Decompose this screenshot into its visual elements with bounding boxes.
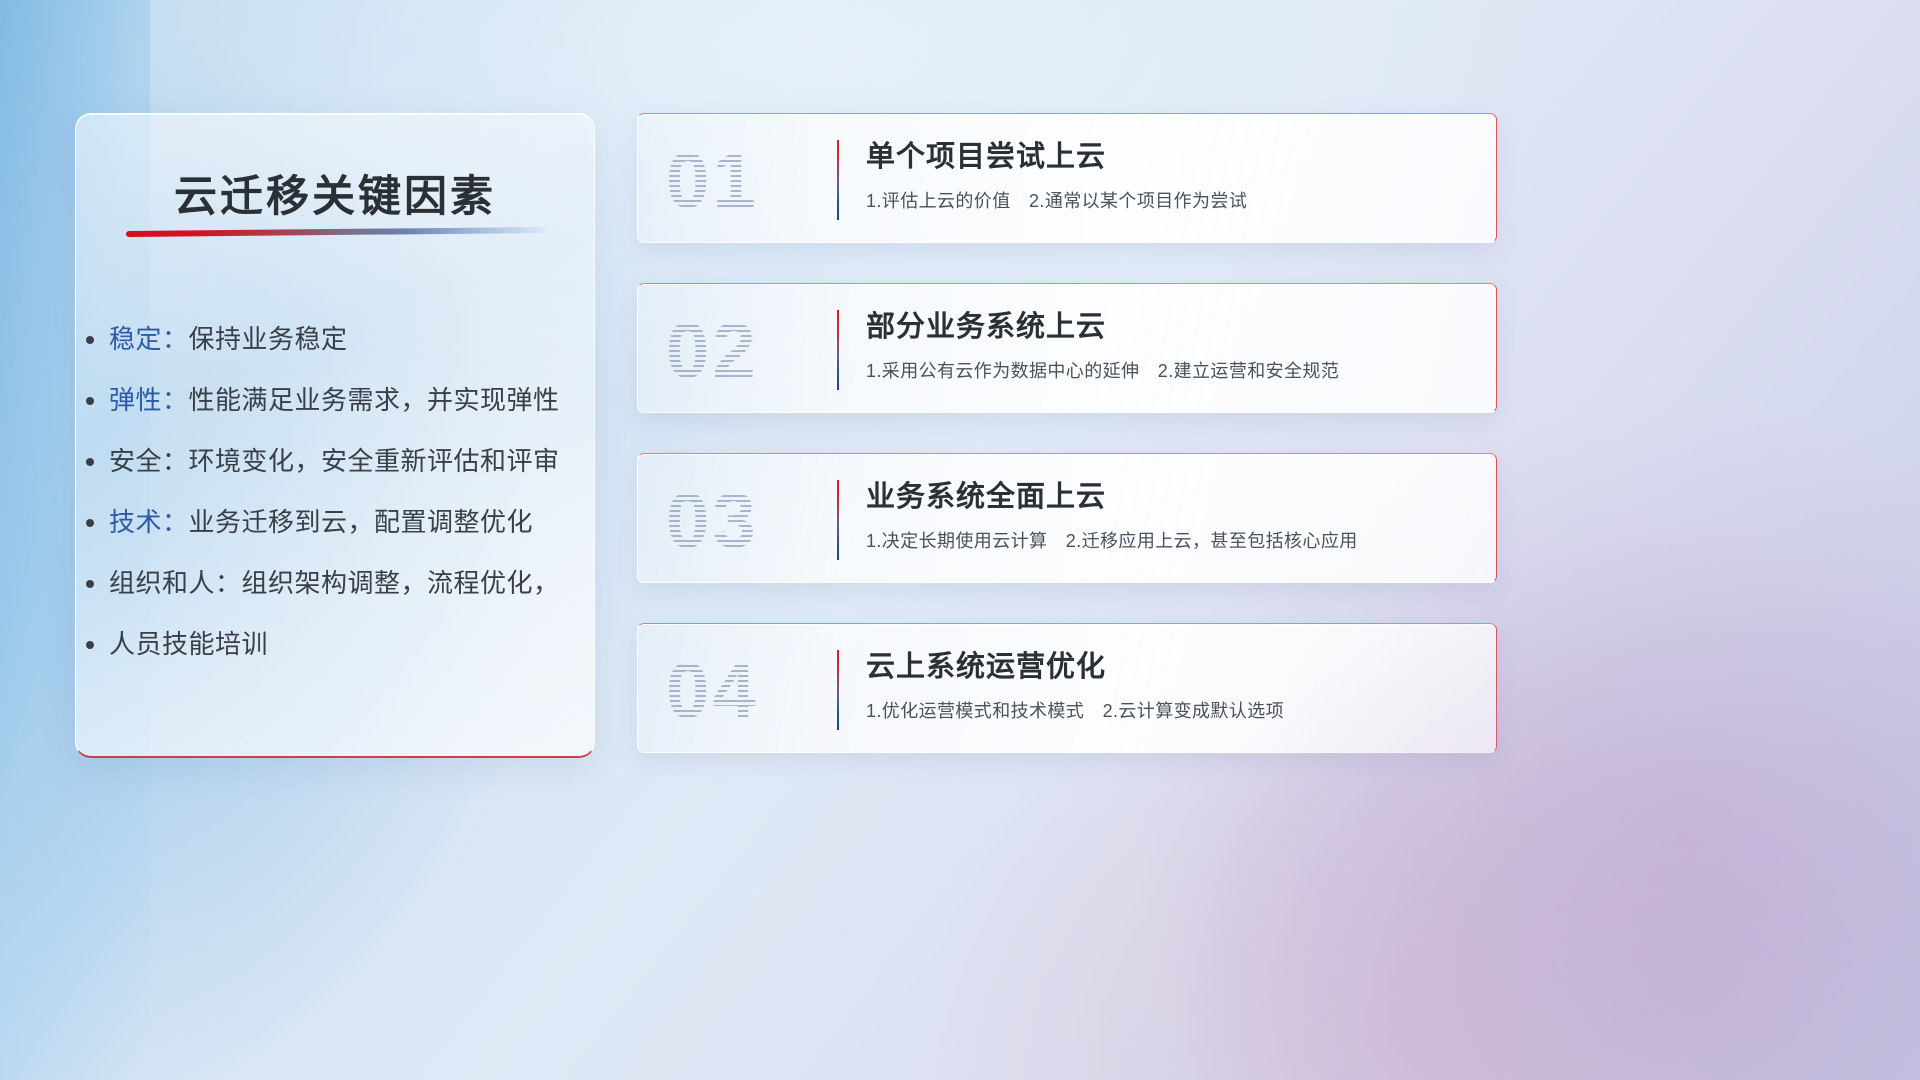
stage-card-body: 业务系统全面上云1.决定长期使用云计算 2.迁移应用上云，甚至包括核心应用	[866, 476, 1478, 554]
key-factor-text: 环境变化，安全重新评估和评审	[189, 446, 560, 476]
stage-description: 1.优化运营模式和技术模式 2.云计算变成默认选项	[866, 698, 1478, 724]
stage-title: 部分业务系统上云	[866, 306, 1478, 348]
key-factor-text: 人员技能培训	[109, 629, 268, 659]
stage-description: 1.评估上云的价值 2.通常以某个项目作为尝试	[866, 188, 1478, 214]
stage-title: 业务系统全面上云	[866, 476, 1478, 518]
key-factor-label: 稳定：	[109, 324, 189, 354]
key-factor-text: 保持业务稳定	[189, 324, 348, 354]
stage-title: 单个项目尝试上云	[866, 136, 1478, 178]
stage-title: 云上系统运营优化	[866, 646, 1478, 688]
stage-divider-bar	[837, 480, 839, 560]
stage-number: 03	[666, 470, 826, 570]
stage-divider-bar	[837, 140, 839, 220]
stage-card[interactable]: 03业务系统全面上云1.决定长期使用云计算 2.迁移应用上云，甚至包括核心应用	[637, 453, 1497, 583]
key-factor-text: 性能满足业务需求，并实现弹性	[189, 385, 560, 415]
key-factor-label: 组织和人：	[109, 568, 242, 598]
key-factor-text: 组织架构调整，流程优化，	[242, 568, 560, 598]
key-factor-item: 组织和人：组织架构调整，流程优化，	[109, 553, 572, 614]
key-factors-list: 稳定：保持业务稳定弹性：性能满足业务需求，并实现弹性安全：环境变化，安全重新评估…	[109, 309, 572, 675]
key-factor-item: 稳定：保持业务稳定	[109, 309, 572, 370]
stage-number: 02	[666, 300, 826, 400]
stage-card-body: 云上系统运营优化1.优化运营模式和技术模式 2.云计算变成默认选项	[866, 646, 1478, 724]
key-factor-text: 业务迁移到云，配置调整优化	[189, 507, 534, 537]
key-factor-item: 安全：环境变化，安全重新评估和评审	[109, 431, 572, 492]
page-title: 云迁移关键因素	[76, 162, 594, 224]
stage-card-body: 部分业务系统上云1.采用公有云作为数据中心的延伸 2.建立运营和安全规范	[866, 306, 1478, 384]
stage-card[interactable]: 01单个项目尝试上云1.评估上云的价值 2.通常以某个项目作为尝试	[637, 113, 1497, 243]
stage-card-body: 单个项目尝试上云1.评估上云的价值 2.通常以某个项目作为尝试	[866, 136, 1478, 214]
stage-description: 1.采用公有云作为数据中心的延伸 2.建立运营和安全规范	[866, 358, 1478, 384]
key-factor-label: 弹性：	[109, 385, 189, 415]
stage-divider-bar	[837, 310, 839, 390]
stage-card[interactable]: 04云上系统运营优化1.优化运营模式和技术模式 2.云计算变成默认选项	[637, 623, 1497, 753]
key-factor-item: 弹性：性能满足业务需求，并实现弹性	[109, 370, 572, 431]
key-factor-item: 技术：业务迁移到云，配置调整优化	[109, 492, 572, 553]
stage-number: 04	[666, 640, 826, 740]
slide-canvas: 云迁移关键因素 稳定：保持业务稳定弹性：性能满足业务需求，并实现弹性安全：环境变…	[0, 0, 1920, 1080]
title-underline-gradient	[126, 227, 546, 237]
key-factor-label: 安全：	[109, 446, 189, 476]
key-factors-panel: 云迁移关键因素 稳定：保持业务稳定弹性：性能满足业务需求，并实现弹性安全：环境变…	[75, 113, 595, 758]
stage-description: 1.决定长期使用云计算 2.迁移应用上云，甚至包括核心应用	[866, 528, 1478, 554]
stage-divider-bar	[837, 650, 839, 730]
key-factor-label: 技术：	[109, 507, 189, 537]
stage-card[interactable]: 02部分业务系统上云1.采用公有云作为数据中心的延伸 2.建立运营和安全规范	[637, 283, 1497, 413]
key-factor-item: 人员技能培训	[109, 614, 572, 675]
migration-stage-cards: 01单个项目尝试上云1.评估上云的价值 2.通常以某个项目作为尝试02部分业务系…	[637, 113, 1497, 793]
stage-number: 01	[666, 130, 826, 230]
